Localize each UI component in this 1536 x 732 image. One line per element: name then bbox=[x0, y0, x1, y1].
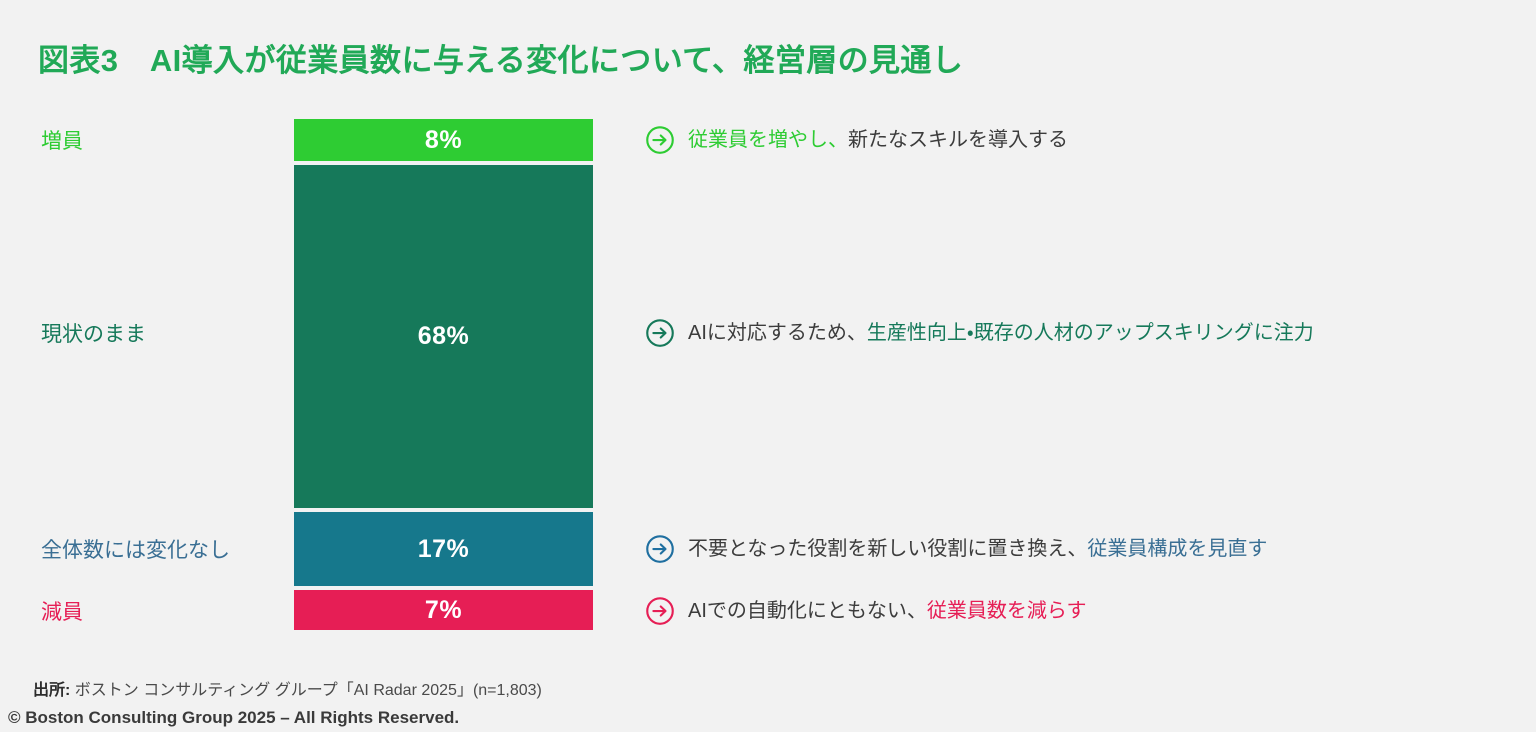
annotation-highlight: 従業員を増やし、 bbox=[688, 129, 848, 151]
category-label-0: 増員 bbox=[41, 125, 83, 155]
annotation-text: 従業員を増やし、新たなスキルを導入する bbox=[688, 128, 1068, 152]
bar-value-label: 7% bbox=[425, 598, 462, 623]
annotation-prefix: 不要となった役割を新しい役割に置き換え、 bbox=[688, 538, 1087, 560]
annotation-highlight: 生産性向上・既存の人材のアップスキリングに注力 bbox=[867, 322, 1314, 344]
copyright-line: © Boston Consulting Group 2025 – All Rig… bbox=[8, 708, 459, 728]
annotation-prefix: AIでの自動化にともない、 bbox=[688, 600, 927, 622]
bar-segment-increase[interactable]: 8% bbox=[292, 117, 595, 163]
annotation-row-no-net-change: 不要となった役割を新しい役割に置き換え、従業員構成を見直す bbox=[645, 534, 1267, 564]
arrow-circle-right-icon bbox=[645, 534, 675, 564]
annotation-suffix: 新たなスキルを導入する bbox=[848, 129, 1068, 151]
annotation-highlight: 従業員数を減らす bbox=[927, 600, 1087, 622]
arrow-circle-right-icon bbox=[645, 125, 675, 155]
annotation-text: AIでの自動化にともない、従業員数を減らす bbox=[688, 599, 1087, 623]
bar-value-label: 17% bbox=[418, 537, 470, 562]
source-label: 出所: bbox=[33, 682, 70, 699]
annotation-row-decrease: AIでの自動化にともない、従業員数を減らす bbox=[645, 596, 1087, 626]
annotation-row-unchanged: AIに対応するため、生産性向上・既存の人材のアップスキリングに注力 bbox=[645, 318, 1314, 348]
annotation-text: AIに対応するため、生産性向上・既存の人材のアップスキリングに注力 bbox=[688, 321, 1314, 345]
chart-figure: 増員 現状のまま 全体数には変化なし 減員 8% 68% 17% 7% 従業員を… bbox=[0, 0, 1536, 732]
category-label-2: 全体数には変化なし bbox=[41, 534, 230, 564]
stacked-bar: 8% 68% 17% 7% bbox=[292, 117, 595, 632]
annotation-highlight: 従業員構成を見直す bbox=[1087, 538, 1267, 560]
annotation-row-increase: 従業員を増やし、新たなスキルを導入する bbox=[645, 125, 1068, 155]
category-label-1: 現状のまま bbox=[41, 318, 146, 348]
arrow-circle-right-icon bbox=[645, 318, 675, 348]
annotation-prefix: AIに対応するため、 bbox=[688, 322, 867, 344]
bar-segment-decrease[interactable]: 7% bbox=[292, 588, 595, 632]
annotation-text: 不要となった役割を新しい役割に置き換え、従業員構成を見直す bbox=[688, 537, 1267, 561]
source-text: ボストン コンサルティング グループ「AI Radar 2025」(n=1,80… bbox=[70, 682, 542, 699]
category-label-3: 減員 bbox=[41, 596, 83, 626]
bar-value-label: 68% bbox=[418, 324, 470, 349]
bar-segment-unchanged[interactable]: 68% bbox=[292, 163, 595, 510]
bar-value-label: 8% bbox=[425, 128, 462, 153]
arrow-circle-right-icon bbox=[645, 596, 675, 626]
bar-segment-no-net-change[interactable]: 17% bbox=[292, 510, 595, 588]
category-label-group: 増員 現状のまま 全体数には変化なし 減員 bbox=[20, 117, 272, 632]
source-line: 出所: ボストン コンサルティング グループ「AI Radar 2025」(n=… bbox=[33, 676, 542, 700]
annotation-group: 従業員を増やし、新たなスキルを導入する AIに対応するため、生産性向上・既存の人… bbox=[645, 117, 1525, 632]
